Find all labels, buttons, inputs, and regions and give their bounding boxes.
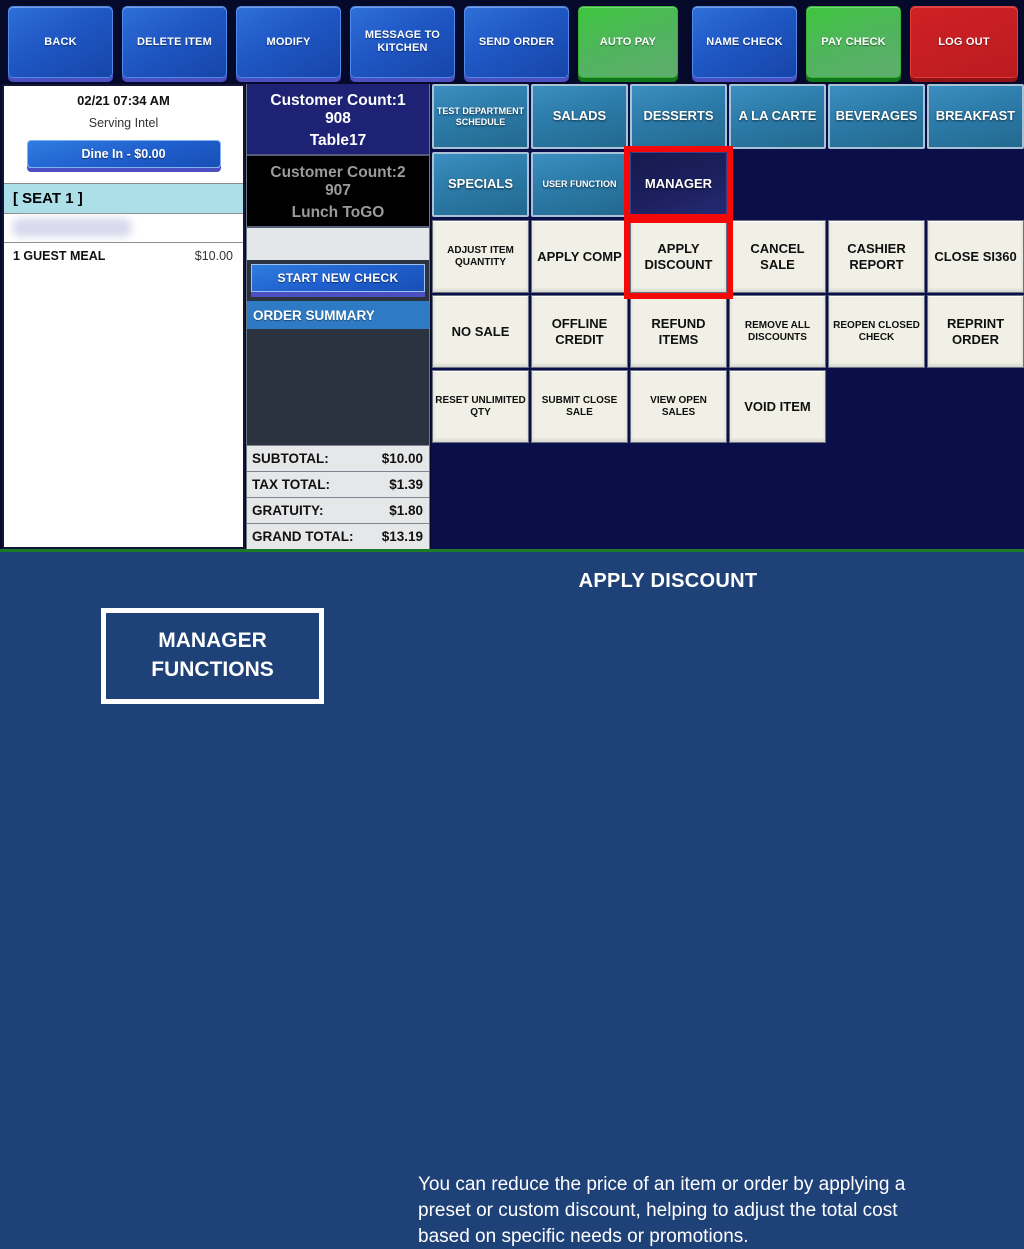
category-button-test-department-schedule[interactable]: TEST DEPARTMENT SCHEDULE [432,84,529,149]
function-button-label: CASHIER REPORT [831,241,922,272]
banner-title: APPLY DISCOUNT [418,570,918,593]
total-row: GRATUITY:$1.80 [247,497,429,523]
function-button-remove-all-discounts[interactable]: REMOVE ALL DISCOUNTS [729,295,826,368]
total-value: $1.39 [389,477,423,492]
order-totals: SUBTOTAL:$10.00TAX TOTAL:$1.39GRATUITY:$… [247,445,429,549]
check-card-count: Customer Count:2 [251,164,425,182]
toolbar-button-label: BACK [44,36,77,49]
category-button-label: BEVERAGES [836,109,918,124]
manager-functions-badge: MANAGER FUNCTIONS [101,608,324,704]
category-button-specials[interactable]: SPECIALS [432,152,529,217]
dine-in-button[interactable]: Dine In - $0.00 [27,140,221,168]
total-row: TAX TOTAL:$1.39 [247,471,429,497]
function-button-adjust-item-quantity[interactable]: ADJUST ITEM QUANTITY [432,220,529,293]
total-label: GRATUITY: [252,503,324,518]
manager-functions-badge-inner: MANAGER FUNCTIONS [106,613,319,699]
category-button-label: A LA CARTE [739,109,817,124]
badge-line-2: FUNCTIONS [151,656,274,685]
function-button-view-open-sales[interactable]: VIEW OPEN SALES [630,370,727,443]
function-button-offline-credit[interactable]: OFFLINE CREDIT [531,295,628,368]
check-card-number: 907 [251,182,425,200]
category-button-label: MANAGER [645,177,712,192]
check-detail-panel: 02/21 07:34 AM Serving Intel Dine In - $… [2,84,245,549]
category-button-label: TEST DEPARTMENT SCHEDULE [436,106,525,126]
toolbar-button-name-check[interactable]: NAME CHECK [692,6,797,78]
check-line-item[interactable]: 1 GUEST MEAL $10.00 [4,243,243,263]
function-button-cancel-sale[interactable]: CANCEL SALE [729,220,826,293]
check-card-active[interactable]: Customer Count:1 908 Table17 [247,84,429,156]
total-row: GRAND TOTAL:$13.19 [247,523,429,549]
category-button-salads[interactable]: SALADS [531,84,628,149]
function-button-label: VIEW OPEN SALES [633,395,724,419]
redaction-blur [12,218,132,237]
toolbar-button-send-order[interactable]: SEND ORDER [464,6,569,78]
total-value: $10.00 [382,451,423,466]
function-button-label: ADJUST ITEM QUANTITY [435,245,526,269]
toolbar-button-label: DELETE ITEM [137,36,212,49]
function-button-cashier-report[interactable]: CASHIER REPORT [828,220,925,293]
total-value: $1.80 [389,503,423,518]
check-card-other[interactable]: Customer Count:2 907 Lunch ToGO [247,156,429,228]
toolbar-button-log-out[interactable]: LOG OUT [910,6,1018,78]
order-summary-header: ORDER SUMMARY [247,301,429,329]
total-label: GRAND TOTAL: [252,529,354,544]
total-label: TAX TOTAL: [252,477,330,492]
toolbar-button-label: PAY CHECK [821,36,886,49]
category-button-label: SPECIALS [448,177,513,192]
toolbar-button-auto-pay[interactable]: AUTO PAY [578,6,678,78]
category-button-label: SALADS [553,109,606,124]
total-label: SUBTOTAL: [252,451,329,466]
toolbar-button-back[interactable]: BACK [8,6,113,78]
checks-spacer [247,228,429,260]
pos-screen: BACKDELETE ITEMMODIFYMESSAGE TO KITCHENS… [0,0,1024,552]
check-card-number: 908 [251,110,425,128]
badge-line-1: MANAGER [158,627,267,656]
toolbar-button-label: MODIFY [267,36,311,49]
line-item-price: $10.00 [195,249,233,263]
line-item-name: 1 GUEST MEAL [13,249,105,263]
category-button-a-la-carte[interactable]: A LA CARTE [729,84,826,149]
banner-description: You can reduce the price of an item or o… [418,1172,948,1249]
category-button-label: DESSERTS [643,109,713,124]
toolbar-button-label: AUTO PAY [600,36,656,49]
check-card-count: Customer Count:1 [251,92,425,110]
toolbar-button-label: MESSAGE TO KITCHEN [354,29,451,55]
toolbar-button-modify[interactable]: MODIFY [236,6,341,78]
category-button-manager[interactable]: MANAGER [630,152,727,217]
function-button-label: REOPEN CLOSED CHECK [831,320,922,344]
function-button-label: RESET UNLIMITED QTY [435,395,526,419]
function-button-close-si360[interactable]: CLOSE SI360 [927,220,1024,293]
function-button-label: REPRINT ORDER [930,316,1021,347]
category-button-user-function[interactable]: USER FUNCTION [531,152,628,217]
check-card-name: Table17 [251,132,425,150]
category-button-beverages[interactable]: BEVERAGES [828,84,925,149]
check-timestamp: 02/21 07:34 AM [4,93,243,108]
toolbar-button-label: LOG OUT [938,36,990,49]
function-button-reprint-order[interactable]: REPRINT ORDER [927,295,1024,368]
function-button-label: NO SALE [452,324,510,339]
category-button-label: BREAKFAST [936,109,1015,124]
function-button-submit-close-sale[interactable]: SUBMIT CLOSE SALE [531,370,628,443]
toolbar-button-label: NAME CHECK [706,36,783,49]
function-button-reopen-closed-check[interactable]: REOPEN CLOSED CHECK [828,295,925,368]
toolbar-button-delete-item[interactable]: DELETE ITEM [122,6,227,78]
function-button-label: APPLY COMP [537,249,622,264]
function-button-refund-items[interactable]: REFUND ITEMS [630,295,727,368]
toolbar-button-message-to-kitchen[interactable]: MESSAGE TO KITCHEN [350,6,455,78]
start-new-check-button[interactable]: START NEW CHECK [251,264,425,292]
top-toolbar: BACKDELETE ITEMMODIFYMESSAGE TO KITCHENS… [0,0,1024,82]
serving-label: Serving Intel [4,116,243,130]
function-button-label: APPLY DISCOUNT [633,241,724,272]
total-row: SUBTOTAL:$10.00 [247,445,429,471]
function-button-label: REFUND ITEMS [633,316,724,347]
function-button-apply-discount[interactable]: APPLY DISCOUNT [630,220,727,293]
category-button-breakfast[interactable]: BREAKFAST [927,84,1024,149]
function-button-label: CANCEL SALE [732,241,823,272]
function-button-void-item[interactable]: VOID ITEM [729,370,826,443]
category-button-label: USER FUNCTION [543,179,617,189]
function-button-label: VOID ITEM [744,399,810,414]
function-button-label: CLOSE SI360 [934,249,1016,264]
function-button-label: SUBMIT CLOSE SALE [534,395,625,419]
function-grid-area: TEST DEPARTMENT SCHEDULESALADSDESSERTSA … [431,84,1024,549]
check-card-name: Lunch ToGO [251,204,425,222]
redacted-item-row [4,214,243,243]
seat-header[interactable]: [ SEAT 1 ] [4,183,243,214]
toolbar-button-label: SEND ORDER [479,36,554,49]
function-button-apply-comp[interactable]: APPLY COMP [531,220,628,293]
function-button-label: REMOVE ALL DISCOUNTS [732,320,823,344]
function-button-no-sale[interactable]: NO SALE [432,295,529,368]
total-value: $13.19 [382,529,423,544]
function-button-reset-unlimited-qty[interactable]: RESET UNLIMITED QTY [432,370,529,443]
checks-column: Customer Count:1 908 Table17 Customer Co… [246,84,430,549]
function-button-label: OFFLINE CREDIT [534,316,625,347]
toolbar-button-pay-check[interactable]: PAY CHECK [806,6,901,78]
category-button-desserts[interactable]: DESSERTS [630,84,727,149]
